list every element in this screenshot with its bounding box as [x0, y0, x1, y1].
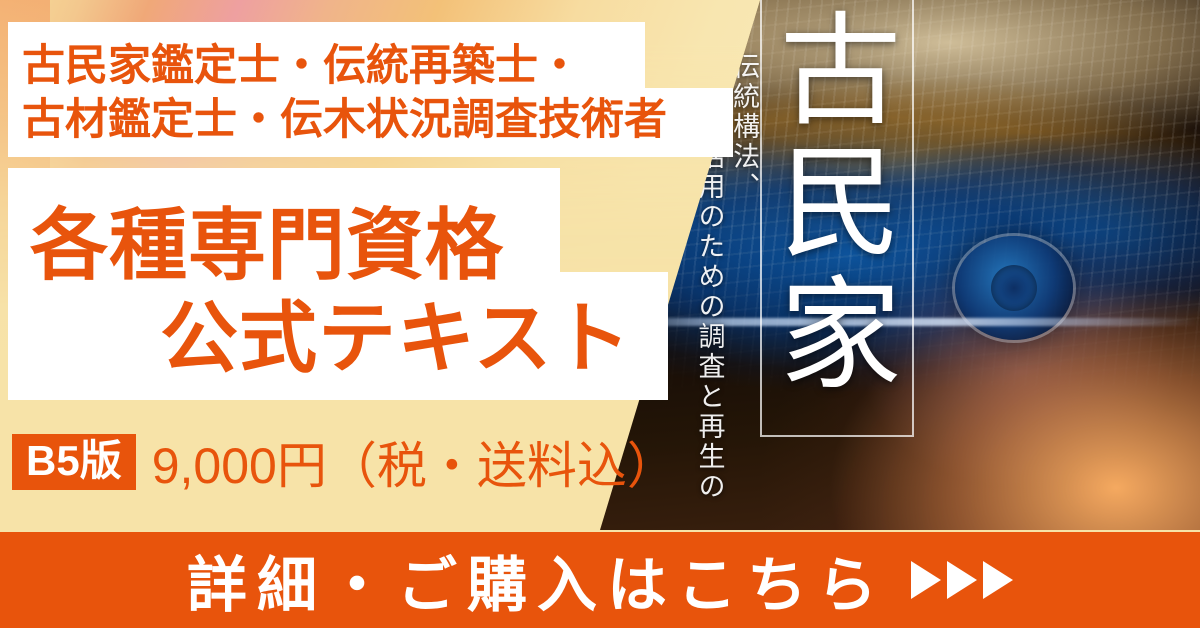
cta-arrows	[911, 561, 1013, 599]
chevron-right-icon	[911, 561, 941, 599]
cta-label: 詳細・ご購入はこちら	[187, 537, 887, 624]
promo-banner: 伝統構法、 古民家活用のための調査と再生の 古民家 古民家鑑定士・伝統再築士・ …	[0, 0, 1200, 628]
qualifications-line-1: 古民家鑑定士・伝統再築士・	[22, 31, 581, 93]
price-amount: 9,000円（税・送料込）	[152, 426, 677, 498]
chevron-right-icon	[983, 561, 1013, 599]
chevron-right-icon	[947, 561, 977, 599]
book-cover-title: 古民家	[778, 6, 896, 402]
price-row: B5版 9,000円（税・送料込）	[12, 426, 677, 498]
cta-bar[interactable]: 詳細・ご購入はこちら	[0, 532, 1200, 628]
headline-line-2: 公式テキスト	[160, 276, 632, 388]
qualifications-panel: 古民家鑑定士・伝統再築士・ 古材鑑定士・伝木状況調査技術者	[8, 22, 733, 157]
qualifications-line-2: 古材鑑定士・伝木状況調査技術者	[22, 85, 667, 147]
book-size-badge: B5版	[12, 434, 136, 490]
